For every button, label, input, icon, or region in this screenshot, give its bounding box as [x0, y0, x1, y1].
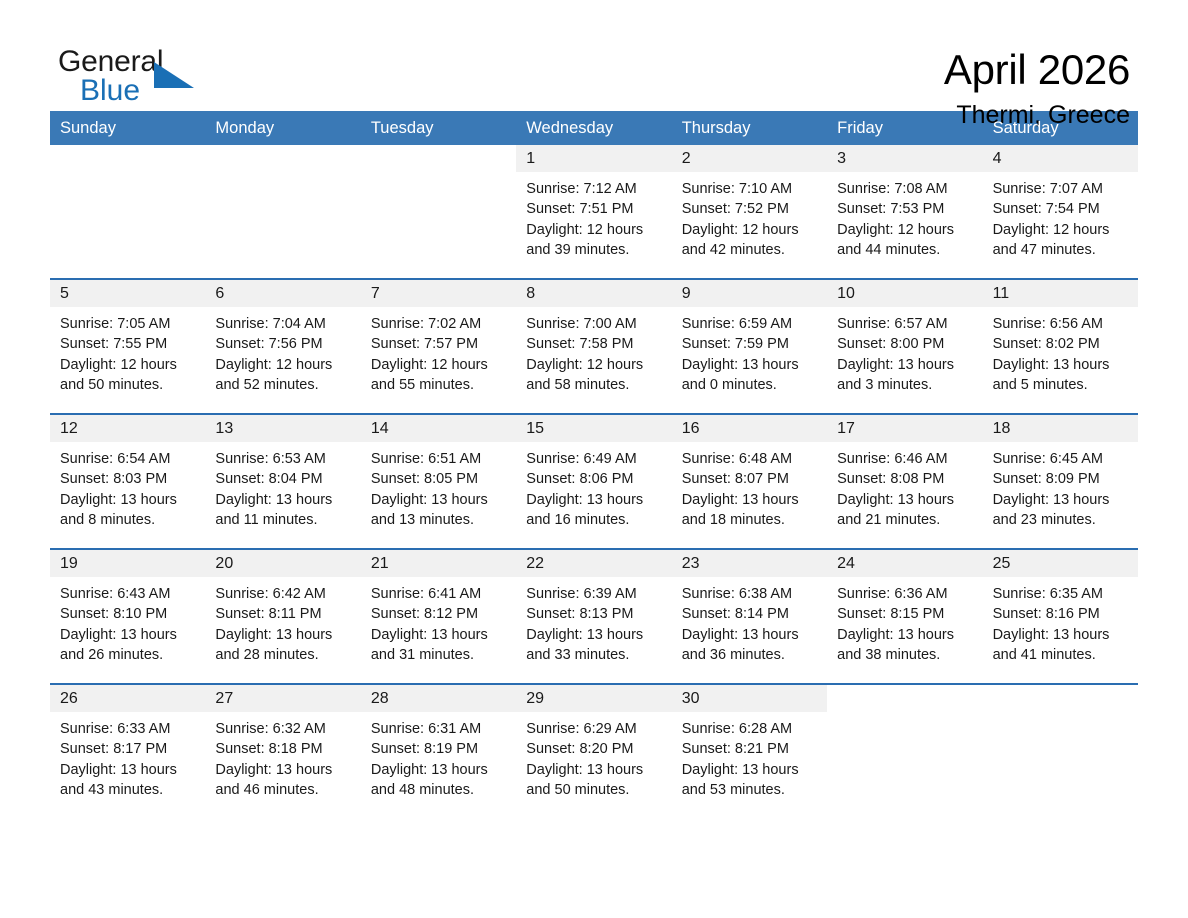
page-title: April 2026 [944, 46, 1130, 94]
calendar-day-cell[interactable]: 22Sunrise: 6:39 AMSunset: 8:13 PMDayligh… [516, 550, 671, 683]
day-info: Sunrise: 7:10 AMSunset: 7:52 PMDaylight:… [672, 172, 827, 260]
sunrise-text: Sunrise: 6:28 AM [682, 719, 817, 739]
sunrise-text: Sunrise: 6:42 AM [215, 584, 350, 604]
sunrise-text: Sunrise: 6:33 AM [60, 719, 195, 739]
calendar-day-cell[interactable]: 9Sunrise: 6:59 AMSunset: 7:59 PMDaylight… [672, 280, 827, 413]
sunrise-text: Sunrise: 6:49 AM [526, 449, 661, 469]
daylight-text-line2: and 18 minutes. [682, 510, 817, 530]
daylight-text-line1: Daylight: 13 hours [837, 490, 972, 510]
day-number: 26 [50, 685, 205, 712]
daylight-text-line1: Daylight: 13 hours [837, 355, 972, 375]
calendar-day-cell[interactable]: 28Sunrise: 6:31 AMSunset: 8:19 PMDayligh… [361, 685, 516, 818]
sunset-text: Sunset: 7:53 PM [837, 199, 972, 219]
calendar-day-cell-empty [361, 145, 516, 278]
sunrise-text: Sunrise: 6:32 AM [215, 719, 350, 739]
day-number [205, 145, 360, 172]
day-number: 7 [361, 280, 516, 307]
daylight-text-line2: and 21 minutes. [837, 510, 972, 530]
daylight-text-line1: Daylight: 13 hours [682, 760, 817, 780]
sunrise-text: Sunrise: 7:12 AM [526, 179, 661, 199]
sunset-text: Sunset: 7:55 PM [60, 334, 195, 354]
sunrise-text: Sunrise: 6:39 AM [526, 584, 661, 604]
sunset-text: Sunset: 7:59 PM [682, 334, 817, 354]
day-number: 20 [205, 550, 360, 577]
daylight-text-line2: and 55 minutes. [371, 375, 506, 395]
day-number: 19 [50, 550, 205, 577]
day-number [983, 685, 1138, 712]
day-info: Sunrise: 6:56 AMSunset: 8:02 PMDaylight:… [983, 307, 1138, 395]
sunrise-text: Sunrise: 6:57 AM [837, 314, 972, 334]
sunset-text: Sunset: 8:05 PM [371, 469, 506, 489]
sunset-text: Sunset: 7:58 PM [526, 334, 661, 354]
daylight-text-line1: Daylight: 12 hours [60, 355, 195, 375]
sunrise-text: Sunrise: 6:48 AM [682, 449, 817, 469]
sunrise-text: Sunrise: 6:31 AM [371, 719, 506, 739]
calendar-day-cell-empty [205, 145, 360, 278]
sunrise-text: Sunrise: 6:43 AM [60, 584, 195, 604]
daylight-text-line1: Daylight: 12 hours [215, 355, 350, 375]
sunset-text: Sunset: 8:00 PM [837, 334, 972, 354]
sunrise-text: Sunrise: 7:10 AM [682, 179, 817, 199]
daylight-text-line1: Daylight: 12 hours [837, 220, 972, 240]
daylight-text-line2: and 31 minutes. [371, 645, 506, 665]
calendar-day-cell[interactable]: 7Sunrise: 7:02 AMSunset: 7:57 PMDaylight… [361, 280, 516, 413]
daylight-text-line1: Daylight: 13 hours [993, 355, 1128, 375]
day-info: Sunrise: 6:29 AMSunset: 8:20 PMDaylight:… [516, 712, 671, 800]
calendar-day-cell[interactable]: 14Sunrise: 6:51 AMSunset: 8:05 PMDayligh… [361, 415, 516, 548]
day-number: 2 [672, 145, 827, 172]
daylight-text-line1: Daylight: 13 hours [682, 625, 817, 645]
day-info: Sunrise: 7:02 AMSunset: 7:57 PMDaylight:… [361, 307, 516, 395]
calendar-day-cell[interactable]: 13Sunrise: 6:53 AMSunset: 8:04 PMDayligh… [205, 415, 360, 548]
calendar-day-cell[interactable]: 29Sunrise: 6:29 AMSunset: 8:20 PMDayligh… [516, 685, 671, 818]
daylight-text-line2: and 46 minutes. [215, 780, 350, 800]
day-number: 22 [516, 550, 671, 577]
day-info: Sunrise: 6:51 AMSunset: 8:05 PMDaylight:… [361, 442, 516, 530]
daylight-text-line1: Daylight: 13 hours [526, 490, 661, 510]
day-number: 13 [205, 415, 360, 442]
daylight-text-line2: and 43 minutes. [60, 780, 195, 800]
day-info: Sunrise: 7:04 AMSunset: 7:56 PMDaylight:… [205, 307, 360, 395]
day-info: Sunrise: 7:07 AMSunset: 7:54 PMDaylight:… [983, 172, 1138, 260]
day-info: Sunrise: 6:57 AMSunset: 8:00 PMDaylight:… [827, 307, 982, 395]
calendar-day-cell[interactable]: 5Sunrise: 7:05 AMSunset: 7:55 PMDaylight… [50, 280, 205, 413]
calendar-day-cell[interactable]: 26Sunrise: 6:33 AMSunset: 8:17 PMDayligh… [50, 685, 205, 818]
calendar-day-cell-empty [827, 685, 982, 818]
logo-general-blue[interactable]: General Blue [50, 46, 238, 126]
day-number: 21 [361, 550, 516, 577]
calendar-day-cell-empty [983, 685, 1138, 818]
day-info: Sunrise: 6:35 AMSunset: 8:16 PMDaylight:… [983, 577, 1138, 665]
sunset-text: Sunset: 8:12 PM [371, 604, 506, 624]
weekday-header-saturday: Saturday [983, 111, 1138, 145]
day-info: Sunrise: 6:28 AMSunset: 8:21 PMDaylight:… [672, 712, 827, 800]
day-number: 6 [205, 280, 360, 307]
sunset-text: Sunset: 7:54 PM [993, 199, 1128, 219]
day-number: 12 [50, 415, 205, 442]
sunrise-text: Sunrise: 6:53 AM [215, 449, 350, 469]
day-info: Sunrise: 6:33 AMSunset: 8:17 PMDaylight:… [50, 712, 205, 800]
daylight-text-line2: and 41 minutes. [993, 645, 1128, 665]
daylight-text-line1: Daylight: 13 hours [215, 760, 350, 780]
calendar-day-cell[interactable]: 8Sunrise: 7:00 AMSunset: 7:58 PMDaylight… [516, 280, 671, 413]
day-info: Sunrise: 6:49 AMSunset: 8:06 PMDaylight:… [516, 442, 671, 530]
daylight-text-line2: and 48 minutes. [371, 780, 506, 800]
calendar-day-cell[interactable]: 24Sunrise: 6:36 AMSunset: 8:15 PMDayligh… [827, 550, 982, 683]
sunrise-text: Sunrise: 7:07 AM [993, 179, 1128, 199]
daylight-text-line2: and 33 minutes. [526, 645, 661, 665]
logo-triangle-icon [154, 62, 194, 88]
calendar-day-cell[interactable]: 12Sunrise: 6:54 AMSunset: 8:03 PMDayligh… [50, 415, 205, 548]
sunrise-text: Sunrise: 6:45 AM [993, 449, 1128, 469]
sunset-text: Sunset: 7:51 PM [526, 199, 661, 219]
sunset-text: Sunset: 8:03 PM [60, 469, 195, 489]
day-number: 5 [50, 280, 205, 307]
daylight-text-line1: Daylight: 13 hours [60, 490, 195, 510]
day-number: 18 [983, 415, 1138, 442]
sunset-text: Sunset: 8:04 PM [215, 469, 350, 489]
sunrise-text: Sunrise: 6:51 AM [371, 449, 506, 469]
calendar-day-cell[interactable]: 11Sunrise: 6:56 AMSunset: 8:02 PMDayligh… [983, 280, 1138, 413]
day-number [361, 145, 516, 172]
sunset-text: Sunset: 8:19 PM [371, 739, 506, 759]
calendar-week-row: 26Sunrise: 6:33 AMSunset: 8:17 PMDayligh… [50, 683, 1138, 818]
sunset-text: Sunset: 8:10 PM [60, 604, 195, 624]
daylight-text-line2: and 16 minutes. [526, 510, 661, 530]
daylight-text-line1: Daylight: 13 hours [837, 625, 972, 645]
calendar-day-cell[interactable]: 17Sunrise: 6:46 AMSunset: 8:08 PMDayligh… [827, 415, 982, 548]
sunset-text: Sunset: 8:06 PM [526, 469, 661, 489]
day-info: Sunrise: 6:39 AMSunset: 8:13 PMDaylight:… [516, 577, 671, 665]
sunset-text: Sunset: 8:07 PM [682, 469, 817, 489]
daylight-text-line2: and 42 minutes. [682, 240, 817, 260]
daylight-text-line1: Daylight: 13 hours [215, 625, 350, 645]
daylight-text-line1: Daylight: 13 hours [215, 490, 350, 510]
sunset-text: Sunset: 8:08 PM [837, 469, 972, 489]
day-number: 11 [983, 280, 1138, 307]
day-info: Sunrise: 7:00 AMSunset: 7:58 PMDaylight:… [516, 307, 671, 395]
calendar-day-cell[interactable]: 10Sunrise: 6:57 AMSunset: 8:00 PMDayligh… [827, 280, 982, 413]
sunrise-text: Sunrise: 6:59 AM [682, 314, 817, 334]
daylight-text-line2: and 38 minutes. [837, 645, 972, 665]
daylight-text-line1: Daylight: 13 hours [371, 490, 506, 510]
sunrise-text: Sunrise: 6:56 AM [993, 314, 1128, 334]
day-number: 17 [827, 415, 982, 442]
daylight-text-line2: and 8 minutes. [60, 510, 195, 530]
day-info: Sunrise: 6:46 AMSunset: 8:08 PMDaylight:… [827, 442, 982, 530]
daylight-text-line1: Daylight: 12 hours [526, 220, 661, 240]
day-info: Sunrise: 7:12 AMSunset: 7:51 PMDaylight:… [516, 172, 671, 260]
day-number: 23 [672, 550, 827, 577]
sunrise-text: Sunrise: 7:08 AM [837, 179, 972, 199]
calendar-day-cell[interactable]: 19Sunrise: 6:43 AMSunset: 8:10 PMDayligh… [50, 550, 205, 683]
sunrise-text: Sunrise: 6:29 AM [526, 719, 661, 739]
sunrise-text: Sunrise: 7:02 AM [371, 314, 506, 334]
daylight-text-line1: Daylight: 13 hours [993, 625, 1128, 645]
daylight-text-line1: Daylight: 13 hours [371, 625, 506, 645]
daylight-text-line1: Daylight: 13 hours [682, 355, 817, 375]
day-info: Sunrise: 6:42 AMSunset: 8:11 PMDaylight:… [205, 577, 360, 665]
daylight-text-line2: and 23 minutes. [993, 510, 1128, 530]
daylight-text-line1: Daylight: 13 hours [60, 625, 195, 645]
daylight-text-line2: and 50 minutes. [60, 375, 195, 395]
day-number: 28 [361, 685, 516, 712]
calendar-day-cell[interactable]: 2Sunrise: 7:10 AMSunset: 7:52 PMDaylight… [672, 145, 827, 278]
daylight-text-line2: and 50 minutes. [526, 780, 661, 800]
sunset-text: Sunset: 8:14 PM [682, 604, 817, 624]
daylight-text-line1: Daylight: 12 hours [371, 355, 506, 375]
sunrise-text: Sunrise: 6:46 AM [837, 449, 972, 469]
weekday-header-thursday: Thursday [672, 111, 827, 145]
sunset-text: Sunset: 8:11 PM [215, 604, 350, 624]
weekday-header-tuesday: Tuesday [361, 111, 516, 145]
sunrise-text: Sunrise: 6:38 AM [682, 584, 817, 604]
day-number: 29 [516, 685, 671, 712]
weekday-header-friday: Friday [827, 111, 982, 145]
day-info: Sunrise: 6:45 AMSunset: 8:09 PMDaylight:… [983, 442, 1138, 530]
day-info: Sunrise: 6:38 AMSunset: 8:14 PMDaylight:… [672, 577, 827, 665]
calendar-day-cell[interactable]: 21Sunrise: 6:41 AMSunset: 8:12 PMDayligh… [361, 550, 516, 683]
daylight-text-line2: and 36 minutes. [682, 645, 817, 665]
day-number: 24 [827, 550, 982, 577]
sunset-text: Sunset: 7:57 PM [371, 334, 506, 354]
sunset-text: Sunset: 8:16 PM [993, 604, 1128, 624]
day-number: 10 [827, 280, 982, 307]
sunrise-text: Sunrise: 7:05 AM [60, 314, 195, 334]
sunrise-text: Sunrise: 7:04 AM [215, 314, 350, 334]
day-info: Sunrise: 7:08 AMSunset: 7:53 PMDaylight:… [827, 172, 982, 260]
daylight-text-line2: and 39 minutes. [526, 240, 661, 260]
calendar-week-row: 19Sunrise: 6:43 AMSunset: 8:10 PMDayligh… [50, 548, 1138, 683]
sunrise-text: Sunrise: 6:36 AM [837, 584, 972, 604]
sunset-text: Sunset: 8:09 PM [993, 469, 1128, 489]
daylight-text-line1: Daylight: 13 hours [526, 625, 661, 645]
day-info: Sunrise: 6:53 AMSunset: 8:04 PMDaylight:… [205, 442, 360, 530]
calendar-day-cell[interactable]: 16Sunrise: 6:48 AMSunset: 8:07 PMDayligh… [672, 415, 827, 548]
daylight-text-line1: Daylight: 13 hours [60, 760, 195, 780]
sunrise-text: Sunrise: 6:35 AM [993, 584, 1128, 604]
calendar-day-cell[interactable]: 1Sunrise: 7:12 AMSunset: 7:51 PMDaylight… [516, 145, 671, 278]
daylight-text-line2: and 53 minutes. [682, 780, 817, 800]
day-number: 30 [672, 685, 827, 712]
sunset-text: Sunset: 8:20 PM [526, 739, 661, 759]
day-number: 15 [516, 415, 671, 442]
sunset-text: Sunset: 7:52 PM [682, 199, 817, 219]
calendar-week-row: 12Sunrise: 6:54 AMSunset: 8:03 PMDayligh… [50, 413, 1138, 548]
daylight-text-line2: and 11 minutes. [215, 510, 350, 530]
daylight-text-line1: Daylight: 12 hours [682, 220, 817, 240]
weekday-header-wednesday: Wednesday [516, 111, 671, 145]
day-number: 8 [516, 280, 671, 307]
sunset-text: Sunset: 8:17 PM [60, 739, 195, 759]
daylight-text-line1: Daylight: 12 hours [526, 355, 661, 375]
day-number: 1 [516, 145, 671, 172]
day-number: 27 [205, 685, 360, 712]
day-info: Sunrise: 6:43 AMSunset: 8:10 PMDaylight:… [50, 577, 205, 665]
day-info: Sunrise: 6:36 AMSunset: 8:15 PMDaylight:… [827, 577, 982, 665]
day-info: Sunrise: 7:05 AMSunset: 7:55 PMDaylight:… [50, 307, 205, 395]
sunset-text: Sunset: 8:15 PM [837, 604, 972, 624]
day-number [50, 145, 205, 172]
calendar-table: SundayMondayTuesdayWednesdayThursdayFrid… [50, 111, 1138, 818]
calendar-day-cell-empty [50, 145, 205, 278]
daylight-text-line2: and 26 minutes. [60, 645, 195, 665]
daylight-text-line2: and 28 minutes. [215, 645, 350, 665]
day-number [827, 685, 982, 712]
sunrise-text: Sunrise: 6:54 AM [60, 449, 195, 469]
sunset-text: Sunset: 8:13 PM [526, 604, 661, 624]
calendar-day-cell[interactable]: 6Sunrise: 7:04 AMSunset: 7:56 PMDaylight… [205, 280, 360, 413]
calendar-day-cell[interactable]: 15Sunrise: 6:49 AMSunset: 8:06 PMDayligh… [516, 415, 671, 548]
day-number: 16 [672, 415, 827, 442]
day-info: Sunrise: 6:32 AMSunset: 8:18 PMDaylight:… [205, 712, 360, 800]
daylight-text-line1: Daylight: 13 hours [526, 760, 661, 780]
daylight-text-line2: and 5 minutes. [993, 375, 1128, 395]
calendar-page: General Blue April 2026 Thermi, Greece S… [0, 0, 1188, 918]
calendar-day-cell[interactable]: 3Sunrise: 7:08 AMSunset: 7:53 PMDaylight… [827, 145, 982, 278]
day-number: 14 [361, 415, 516, 442]
daylight-text-line2: and 0 minutes. [682, 375, 817, 395]
daylight-text-line2: and 44 minutes. [837, 240, 972, 260]
calendar-week-row: 1Sunrise: 7:12 AMSunset: 7:51 PMDaylight… [50, 145, 1138, 278]
day-number: 4 [983, 145, 1138, 172]
day-number: 9 [672, 280, 827, 307]
day-info: Sunrise: 6:54 AMSunset: 8:03 PMDaylight:… [50, 442, 205, 530]
calendar-day-cell[interactable]: 18Sunrise: 6:45 AMSunset: 8:09 PMDayligh… [983, 415, 1138, 548]
daylight-text-line1: Daylight: 12 hours [993, 220, 1128, 240]
sunset-text: Sunset: 8:18 PM [215, 739, 350, 759]
daylight-text-line2: and 13 minutes. [371, 510, 506, 530]
daylight-text-line1: Daylight: 13 hours [993, 490, 1128, 510]
daylight-text-line2: and 58 minutes. [526, 375, 661, 395]
page-header: General Blue April 2026 Thermi, Greece [50, 0, 1138, 98]
sunrise-text: Sunrise: 7:00 AM [526, 314, 661, 334]
sunset-text: Sunset: 8:21 PM [682, 739, 817, 759]
daylight-text-line2: and 3 minutes. [837, 375, 972, 395]
sunset-text: Sunset: 7:56 PM [215, 334, 350, 354]
calendar-day-cell[interactable]: 30Sunrise: 6:28 AMSunset: 8:21 PMDayligh… [672, 685, 827, 818]
day-info: Sunrise: 6:59 AMSunset: 7:59 PMDaylight:… [672, 307, 827, 395]
sunrise-text: Sunrise: 6:41 AM [371, 584, 506, 604]
calendar-week-row: 5Sunrise: 7:05 AMSunset: 7:55 PMDaylight… [50, 278, 1138, 413]
calendar-day-cell[interactable]: 20Sunrise: 6:42 AMSunset: 8:11 PMDayligh… [205, 550, 360, 683]
calendar-day-cell[interactable]: 27Sunrise: 6:32 AMSunset: 8:18 PMDayligh… [205, 685, 360, 818]
daylight-text-line1: Daylight: 13 hours [682, 490, 817, 510]
day-number: 3 [827, 145, 982, 172]
daylight-text-line1: Daylight: 13 hours [371, 760, 506, 780]
day-info: Sunrise: 6:41 AMSunset: 8:12 PMDaylight:… [361, 577, 516, 665]
day-info: Sunrise: 6:31 AMSunset: 8:19 PMDaylight:… [361, 712, 516, 800]
calendar-day-cell[interactable]: 4Sunrise: 7:07 AMSunset: 7:54 PMDaylight… [983, 145, 1138, 278]
calendar-day-cell[interactable]: 23Sunrise: 6:38 AMSunset: 8:14 PMDayligh… [672, 550, 827, 683]
daylight-text-line2: and 52 minutes. [215, 375, 350, 395]
calendar-day-cell[interactable]: 25Sunrise: 6:35 AMSunset: 8:16 PMDayligh… [983, 550, 1138, 683]
calendar-weeks: 1Sunrise: 7:12 AMSunset: 7:51 PMDaylight… [50, 145, 1138, 818]
sunset-text: Sunset: 8:02 PM [993, 334, 1128, 354]
day-info: Sunrise: 6:48 AMSunset: 8:07 PMDaylight:… [672, 442, 827, 530]
day-number: 25 [983, 550, 1138, 577]
daylight-text-line2: and 47 minutes. [993, 240, 1128, 260]
